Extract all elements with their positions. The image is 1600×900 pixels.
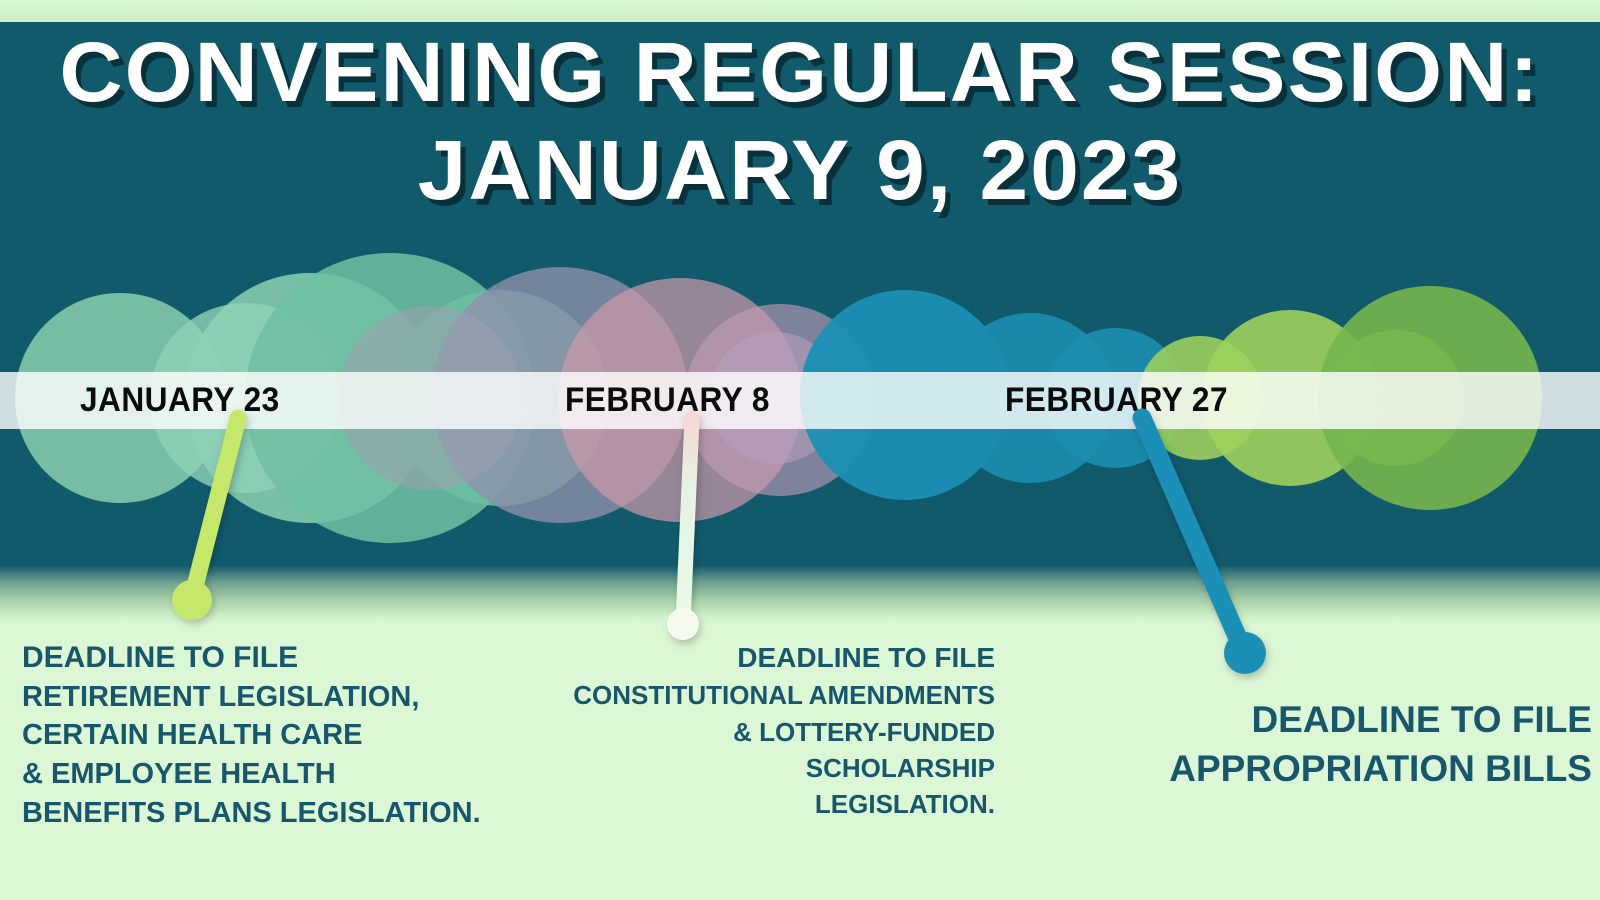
note-line: DEADLINE TO FILE xyxy=(1100,696,1592,745)
note-line: & LOTTERY-FUNDED xyxy=(490,714,995,750)
connector-pin-february-27 xyxy=(1142,418,1266,674)
note-line: APPROPRIATION BILLS xyxy=(1100,745,1592,794)
note-line: RETIREMENT LEGISLATION, xyxy=(22,678,481,717)
note-line: CONSTITUTIONAL AMENDMENTS xyxy=(490,677,995,713)
infographic-root: CONVENING REGULAR SESSION: JANUARY 9, 20… xyxy=(0,0,1600,900)
note-line: SCHOLARSHIP xyxy=(490,750,995,786)
milestone-note-february-8: DEADLINE TO FILE CONSTITUTIONAL AMENDMEN… xyxy=(490,638,995,823)
milestone-note-february-27: DEADLINE TO FILE APPROPRIATION BILLS xyxy=(1100,696,1592,794)
note-line: DEADLINE TO FILE xyxy=(22,638,481,678)
note-line: BENEFITS PLANS LEGISLATION. xyxy=(22,794,481,833)
connector-pin-february-8 xyxy=(667,418,699,640)
note-line: LEGISLATION. xyxy=(490,786,995,822)
note-line: CERTAIN HEALTH CARE xyxy=(22,716,481,755)
note-line: DEADLINE TO FILE xyxy=(490,638,995,677)
note-line: & EMPLOYEE HEALTH xyxy=(22,755,481,794)
milestone-note-january-23: DEADLINE TO FILE RETIREMENT LEGISLATION,… xyxy=(22,638,481,832)
connector-pin-january-23 xyxy=(172,418,238,620)
